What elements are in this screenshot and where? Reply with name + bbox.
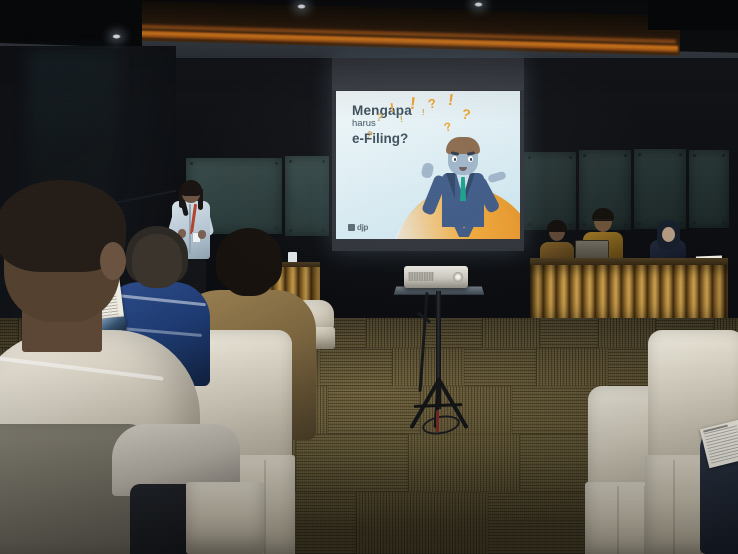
exclamation-mark-icon: ! [422,109,425,117]
panel-stud-icon [190,162,193,165]
ceiling-shadow-right [648,0,738,30]
projector-vent [408,272,434,281]
ceiling-shadow-left [0,0,142,48]
acoustic-wall-panel [689,150,729,228]
panel-stud-icon [638,222,641,225]
ear [100,242,126,280]
panel-stud-icon [569,156,572,159]
panel-stud-icon [528,156,531,159]
power-cable [436,410,439,432]
downlight-icon [474,2,483,7]
presentation-slide: Mengapa harus e-Filing? !!?!??!??! [336,91,520,239]
acoustic-wall-panel [285,156,329,236]
eyeglasses-icon [594,219,612,223]
acoustic-wall-panel [634,149,686,229]
seminar-room-photo: Mengapa harus e-Filing? !!?!??!??! [0,0,738,554]
panel-stud-icon [624,223,627,226]
coiled-cable [421,413,462,437]
panel-stud-icon [322,229,325,232]
djp-logo-icon [348,224,355,231]
panel-stud-icon [722,154,725,157]
screen-top-border [332,58,524,90]
djp-logo-text: djp [357,223,368,232]
panel-stud-icon [275,162,278,165]
panel-stud-icon [693,221,696,224]
confused-businessman-icon [420,117,512,237]
question-mark-icon: ? [427,96,437,110]
projector-cable [419,292,429,392]
slide-title-line1: Mengapa [352,103,462,118]
projector [404,266,468,288]
panel-stud-icon [289,160,292,163]
projector-lens-icon [453,272,463,282]
panel-stud-icon [679,153,682,156]
acoustic-wall-panel [524,152,576,230]
chair-skirt [186,482,264,554]
downlight-icon [112,34,121,39]
banquet-chair [188,482,262,554]
projection-screen: Mengapa harus e-Filing? !!?!??!??! [332,58,524,251]
panel-stud-icon [693,154,696,157]
projector-tripod [392,258,486,440]
panel-stud-icon [624,154,627,157]
panel-stud-icon [722,221,725,224]
panel-stud-icon [638,153,641,156]
panel-stud-icon [583,154,586,157]
downlight-icon [297,4,306,9]
djp-logo: djp [348,223,368,232]
panel-stud-icon [528,223,531,226]
panel-stud-icon [322,160,325,163]
